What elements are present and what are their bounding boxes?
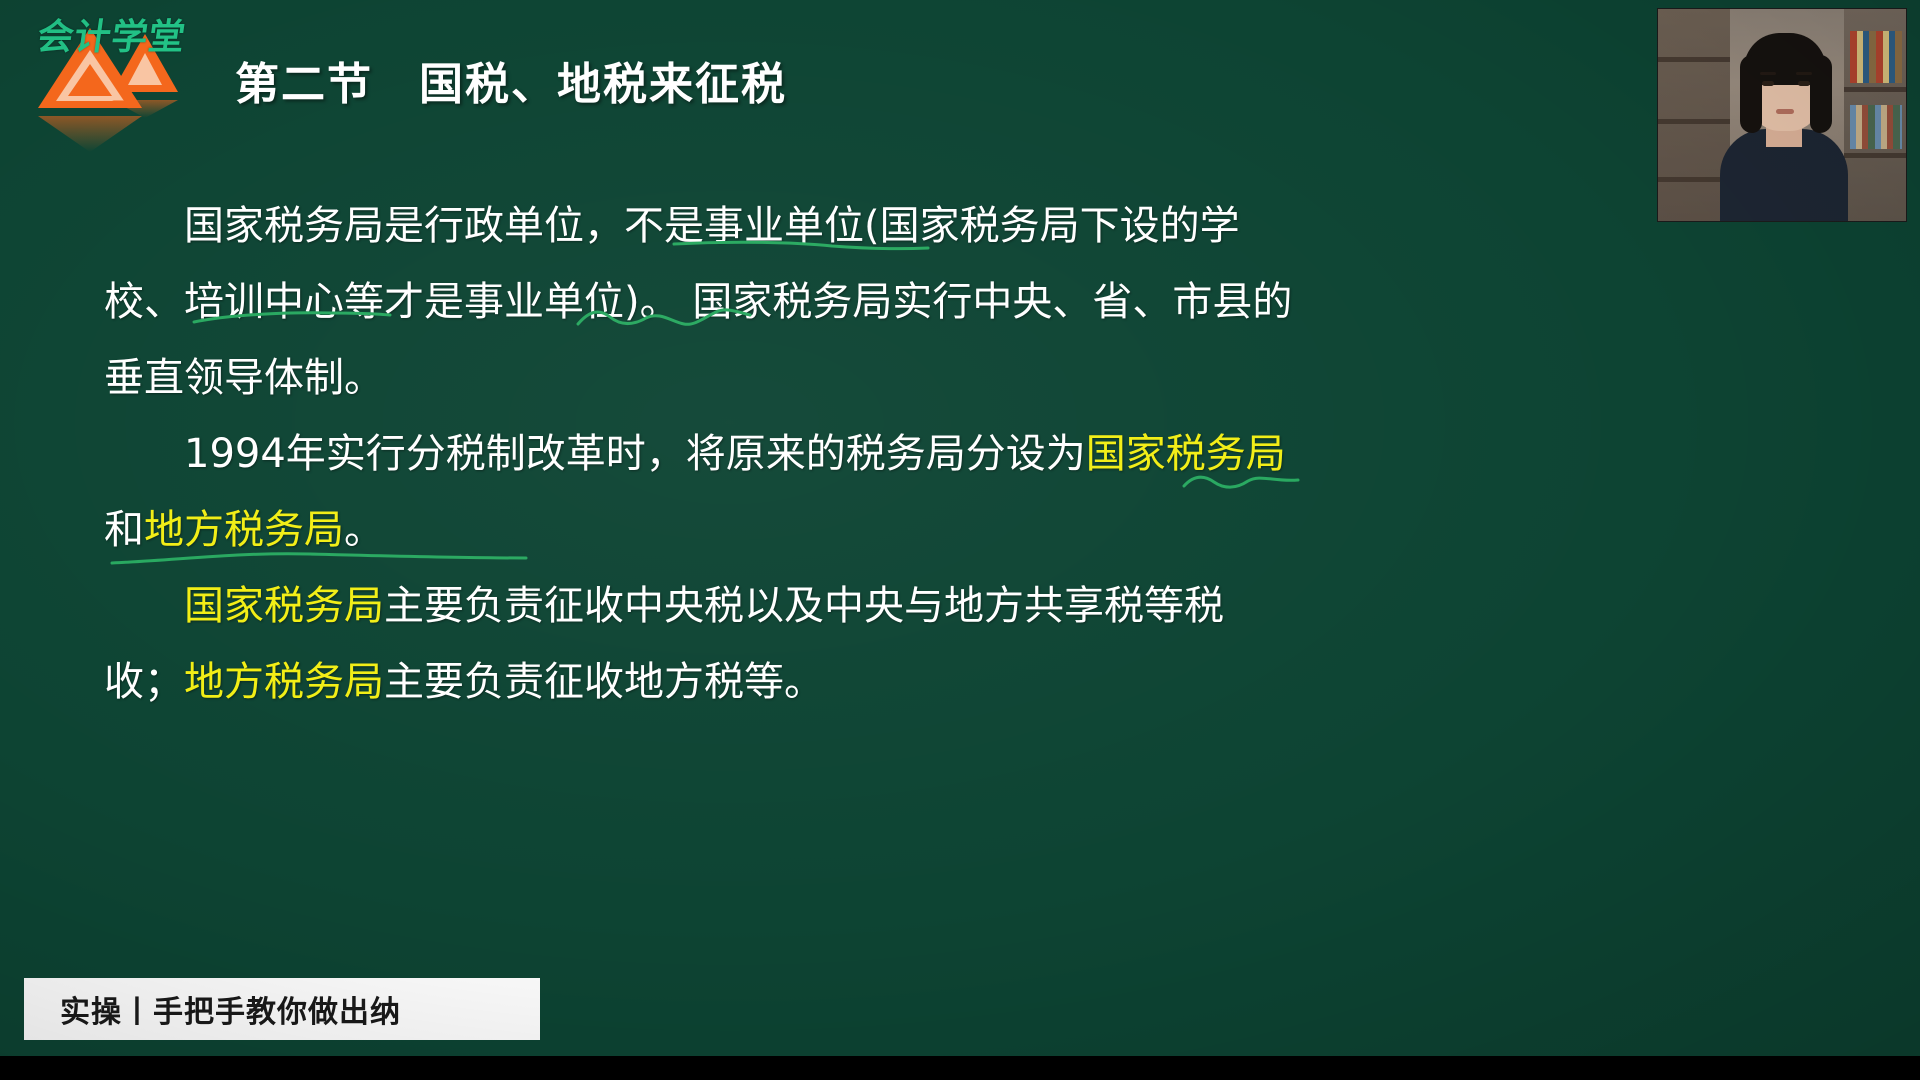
brand-logo-text: 会计学堂 — [34, 8, 189, 60]
run-highlight-dishui-2: 地方税务局 — [184, 659, 384, 705]
run-text: 和 — [104, 507, 144, 553]
course-banner-text: 实操丨手把手教你做出纳 — [60, 987, 401, 1031]
run-text: 1994年实行分税制改革时，将原来的税务局分设为 — [184, 431, 1086, 477]
slide-title: 第二节 国税、地税来征税 — [235, 48, 787, 112]
run-text: 国家税务局是行政单位，不是事业单位(国家税务局下设的学校、培训中心等才是事业单位… — [104, 203, 1292, 401]
instructor-video-thumbnail[interactable] — [1657, 8, 1907, 222]
slide-body: 国家税务局是行政单位，不是事业单位(国家税务局下设的学校、培训中心等才是事业单位… — [104, 188, 1294, 720]
run-highlight-guoshui: 国家税务局 — [1086, 431, 1286, 477]
paragraph-2: 1994年实行分税制改革时，将原来的税务局分设为国家税务局和地方税务局。 — [104, 416, 1294, 568]
bottom-letterbox — [0, 1056, 1920, 1080]
run-highlight-guoshui-2: 国家税务局 — [184, 583, 384, 629]
course-banner: 实操丨手把手教你做出纳 — [24, 978, 540, 1040]
run-highlight-dishui: 地方税务局 — [144, 507, 344, 553]
slide-stage: 会计学堂 — [0, 0, 1920, 1080]
paragraph-3: 国家税务局主要负责征收中央税以及中央与地方共享税等税收；地方税务局主要负责征收地… — [104, 568, 1294, 720]
run-text: 。 — [344, 507, 384, 553]
presentation-slide: 会计学堂 — [0, 0, 1920, 1056]
run-text: 主要负责征收地方税等。 — [384, 659, 824, 705]
paragraph-1: 国家税务局是行政单位，不是事业单位(国家税务局下设的学校、培训中心等才是事业单位… — [104, 188, 1294, 416]
